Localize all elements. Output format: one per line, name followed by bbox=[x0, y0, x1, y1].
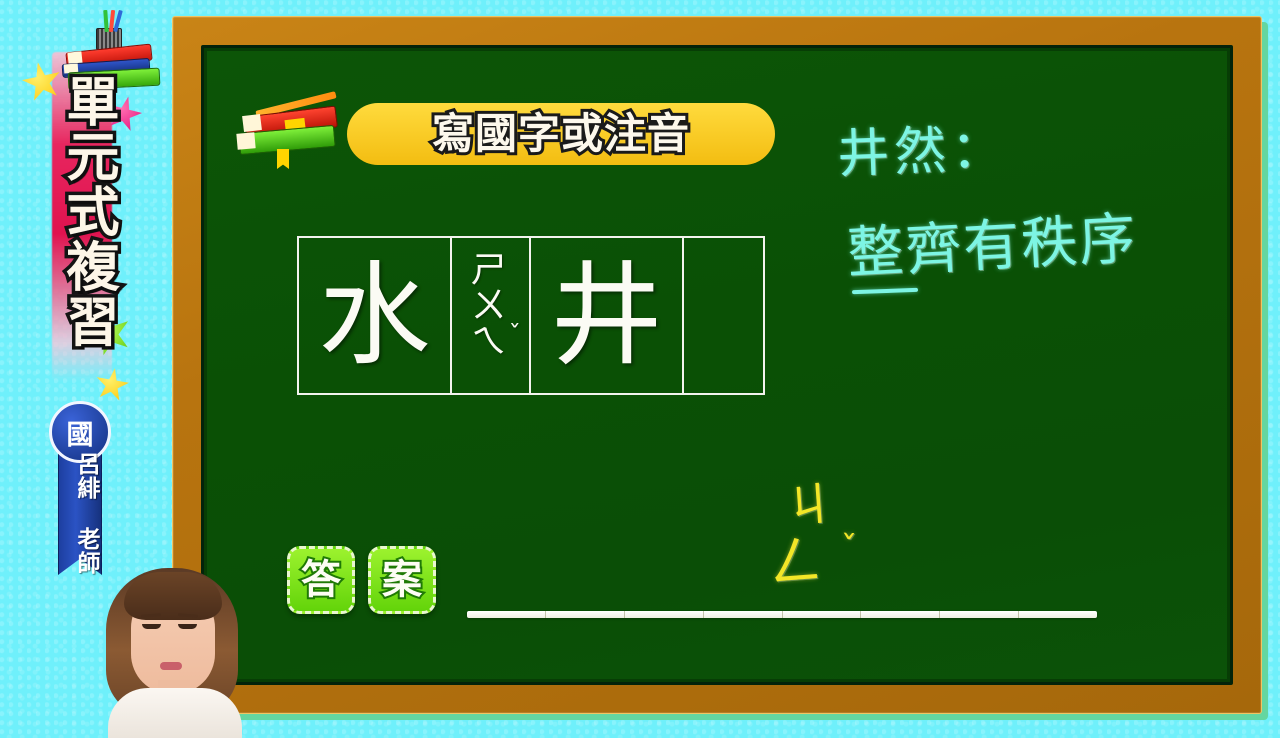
book-pages bbox=[242, 114, 262, 132]
answer-button-group: 答 案 bbox=[287, 546, 436, 614]
ruler-segment bbox=[783, 611, 862, 618]
ruler-segment bbox=[704, 611, 783, 618]
chalk-note-definition: 整齊有秩序 bbox=[845, 193, 1139, 289]
program-title: 單元式複習 bbox=[30, 74, 114, 349]
blackboard-surface: 寫國字或注音 水 ㄕㄨㄟ ˇ 井 bbox=[207, 51, 1227, 679]
teacher-video-overlay bbox=[98, 562, 250, 738]
pencil-icon bbox=[103, 10, 109, 32]
answer-ruled-line bbox=[467, 611, 1097, 618]
answer-button-label: 答 bbox=[301, 560, 341, 600]
grid-char: 井 bbox=[551, 260, 663, 372]
grid-cell-hanzi[interactable]: 井 bbox=[531, 238, 684, 393]
book-pages bbox=[236, 132, 255, 150]
bopomofo-wrap: ㄕㄨㄟ ˇ bbox=[452, 238, 529, 393]
section-title: 寫國字或注音 bbox=[432, 113, 690, 155]
bopomofo-tone-mark: ˇ bbox=[509, 320, 522, 349]
character-grid: 水 ㄕㄨㄟ ˇ 井 bbox=[297, 236, 765, 395]
grid-cell-blank[interactable] bbox=[684, 238, 763, 393]
presenter-fringe bbox=[124, 572, 222, 620]
ruler-segment bbox=[625, 611, 704, 618]
ruler-segment bbox=[467, 611, 546, 618]
grid-char: 水 bbox=[319, 260, 431, 372]
presenter-body bbox=[108, 688, 242, 738]
chalk-underline bbox=[852, 288, 918, 294]
answer-button-label: 案 bbox=[382, 560, 422, 600]
pencil-icon bbox=[58, 10, 62, 32]
presenter-eye bbox=[142, 624, 161, 629]
screen: 單元式複習 國 呂緋 老師 寫國字或注音 bbox=[0, 0, 1280, 738]
teacher-name: 呂緋 老師 bbox=[61, 452, 99, 575]
presenter-mouth bbox=[160, 662, 182, 670]
ruler-segment bbox=[546, 611, 625, 618]
ruler-segment bbox=[940, 611, 1019, 618]
answer-button-da[interactable]: 答 bbox=[287, 546, 355, 614]
ribbon-icon bbox=[277, 149, 289, 169]
presenter-eye bbox=[178, 624, 197, 629]
ruler-segment bbox=[861, 611, 940, 618]
blackboard-frame: 寫國字或注音 水 ㄕㄨㄟ ˇ 井 bbox=[172, 16, 1262, 714]
chalk-bopomofo-final: ㄥ bbox=[766, 516, 824, 598]
header-books-icon bbox=[237, 93, 347, 171]
ruler-segment bbox=[1019, 611, 1097, 618]
answer-button-an[interactable]: 案 bbox=[368, 546, 436, 614]
bopomofo-syllable: ㄕㄨㄟ bbox=[466, 250, 503, 358]
blackboard-inner-bevel: 寫國字或注音 水 ㄕㄨㄟ ˇ 井 bbox=[201, 45, 1233, 685]
chalk-bopomofo-tone: ˇ bbox=[839, 529, 857, 570]
chalk-answer-bopomofo: ㄐ ㄥ ˇ bbox=[762, 469, 872, 589]
grid-cell-bopomofo[interactable]: ㄕㄨㄟ ˇ bbox=[452, 238, 531, 393]
chalk-note-word: 井然： bbox=[836, 106, 1010, 187]
section-title-banner: 寫國字或注音 bbox=[347, 103, 775, 165]
grid-cell-hanzi[interactable]: 水 bbox=[299, 238, 452, 393]
